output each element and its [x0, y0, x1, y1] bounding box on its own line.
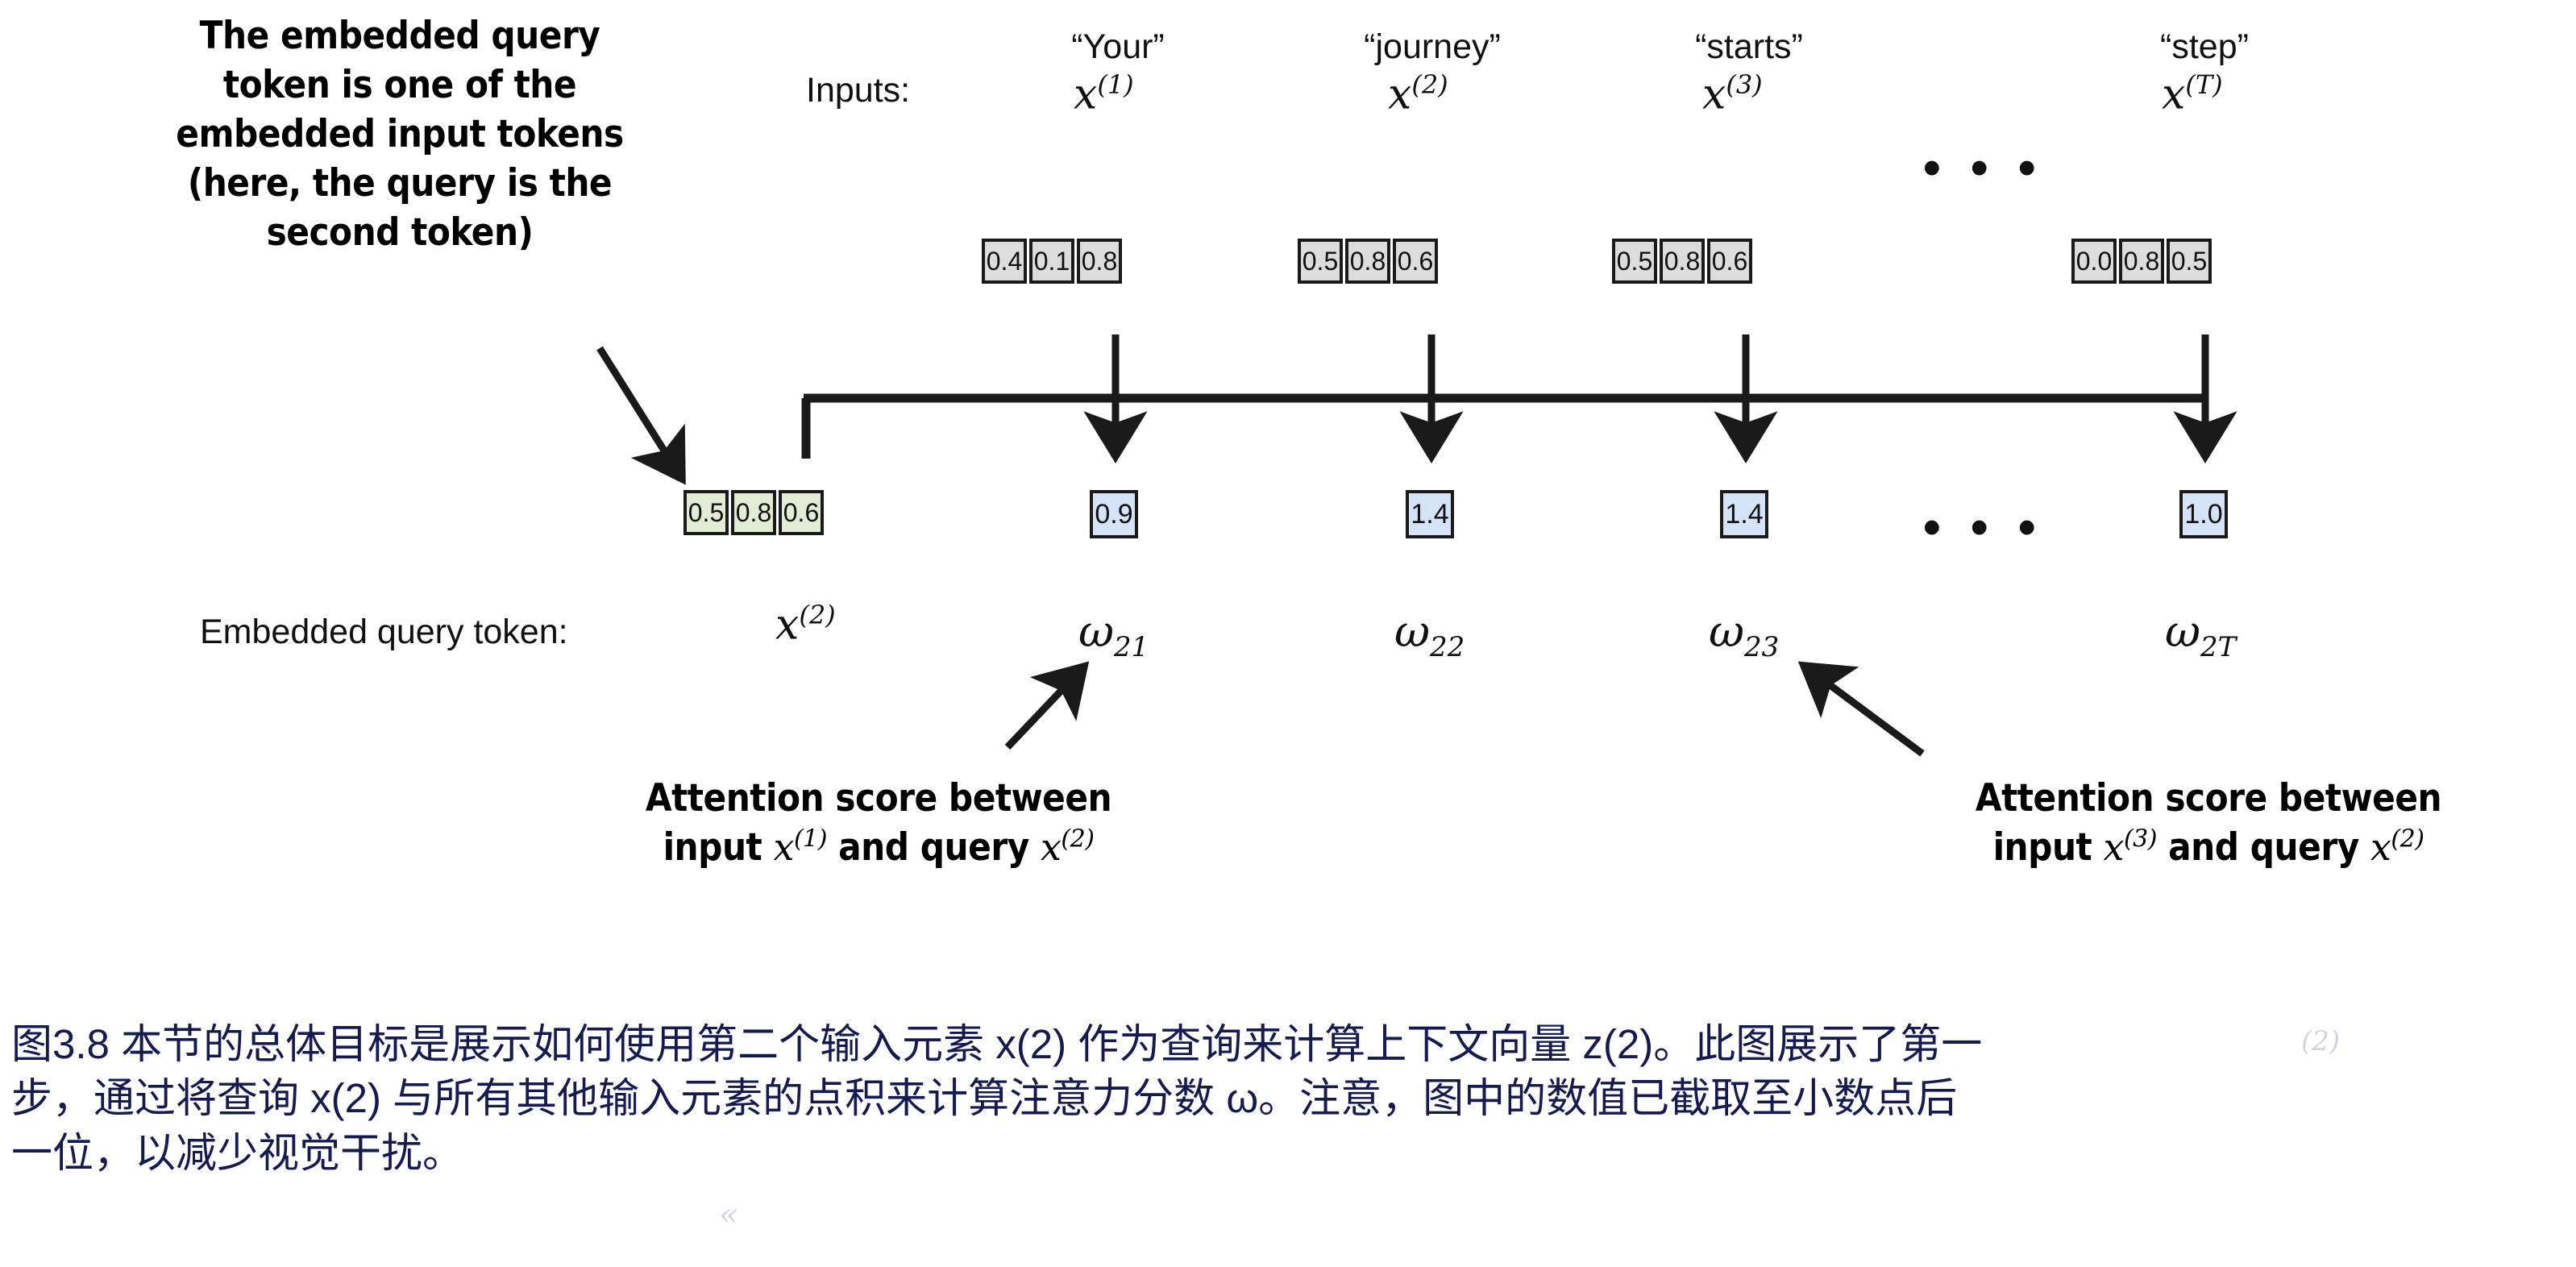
caption-artifact-superscript: (2) [2301, 1025, 2340, 1057]
score-box-2: 1.4 [1406, 490, 1454, 538]
figure-caption: 图3.8 本节的总体目标是展示如何使用第二个输入元素 x(2) 作为查询来计算上… [11, 1017, 2566, 1180]
score-right-arrow-main [1804, 666, 1922, 754]
caption-artifact-mark: « [719, 1196, 738, 1233]
score-right-pre: input [1993, 825, 2104, 870]
embedded-query-token-label: Embedded query token: [200, 613, 568, 652]
input-vector-4-cell-1: 0.8 [2119, 239, 2164, 284]
score-left-mid: and query [827, 825, 1041, 870]
input-vector-3-cell-0: 0.5 [1612, 239, 1657, 284]
omega-label-1: ω21 [1078, 606, 1149, 663]
query-note-line-5: second token) [142, 208, 658, 257]
omega-label-1-sub: 21 [1114, 631, 1149, 663]
omega-label-3: ω23 [1709, 606, 1779, 663]
input-vector-1-cell-2: 0.8 [1077, 239, 1122, 284]
score-left-annotation-line-2: input x(1) and query x(2) [588, 823, 1169, 872]
score-box-1-value: 0.9 [1090, 490, 1138, 538]
figure-caption-line-2: 步，通过将查询 x(2) 与所有其他输入元素的点积来计算注意力分数 ω。注意，图… [11, 1071, 2566, 1125]
score-right-annotation-line-1: Attention score between [1918, 774, 2499, 823]
input-symbol-3: x(3) [1702, 69, 1763, 118]
inputs-label: Inputs: [806, 71, 910, 110]
score-box-4: 1.0 [2179, 490, 2228, 538]
query-note-line-2: token is one of the [142, 60, 658, 110]
score-left-sup1: (1) [794, 825, 827, 853]
query-note-arrow [600, 348, 682, 479]
figure-caption-line-3: 一位，以减少视觉干扰。 [11, 1126, 2566, 1180]
score-left-annotation-line-1: Attention score between [588, 774, 1169, 823]
score-right-x2: x [2370, 825, 2391, 869]
token-word-2: “journey” [1348, 27, 1517, 67]
token-word-3: “starts” [1676, 27, 1822, 67]
input-symbol-1-sup: (1) [1097, 69, 1133, 100]
input-vector-4-cell-2: 0.5 [2167, 239, 2212, 284]
token-word-1: “Your” [1049, 27, 1186, 67]
input-symbol-4: x(T) [2162, 69, 2223, 118]
score-right-sup2: (2) [2391, 825, 2424, 853]
input-vector-2-cell-0: 0.5 [1298, 239, 1343, 284]
score-left-x2: x [1041, 825, 1061, 869]
score-right-x1: x [2103, 825, 2123, 869]
score-left-arrow [1008, 667, 1084, 747]
figure-canvas: The embedded query token is one of the e… [0, 0, 2576, 1267]
token-word-4: “step” [2136, 27, 2273, 67]
omega-label-2: ω22 [1394, 606, 1465, 663]
input-vector-2-cell-1: 0.8 [1345, 239, 1390, 284]
query-note-line-3: embedded input tokens [142, 110, 658, 159]
query-symbol-sup: (2) [799, 600, 835, 630]
input-vector-4: 0.0 0.8 0.5 [2071, 239, 2212, 284]
query-vector-cell-0: 0.5 [683, 490, 729, 535]
score-box-3-value: 1.4 [1720, 490, 1768, 538]
score-box-3: 1.4 [1720, 490, 1768, 538]
score-left-annotation: Attention score between input x(1) and q… [588, 774, 1169, 872]
score-box-2-value: 1.4 [1406, 490, 1454, 538]
input-vector-2: 0.5 0.8 0.6 [1298, 239, 1438, 284]
query-vector-cell-1: 0.8 [731, 490, 776, 535]
input-symbol-3-sup: (3) [1726, 69, 1762, 100]
omega-label-2-sub: 22 [1430, 631, 1465, 663]
input-symbol-1-base: x [1074, 70, 1097, 118]
input-symbol-3-base: x [1702, 70, 1726, 118]
input-row-ellipsis: • • • [1923, 143, 2044, 193]
input-vector-2-cell-2: 0.6 [1393, 239, 1438, 284]
input-vector-4-cell-0: 0.0 [2071, 239, 2117, 284]
query-symbol-base: x [775, 600, 799, 649]
score-right-annotation: Attention score between input x(3) and q… [1918, 774, 2499, 872]
query-note-line-1: The embedded query [142, 11, 658, 60]
input-symbol-1: x(1) [1074, 69, 1134, 118]
score-right-annotation-line-2: input x(3) and query x(2) [1918, 823, 2499, 872]
score-row-ellipsis: • • • [1923, 503, 2044, 553]
query-vector-cell-2: 0.6 [779, 490, 824, 535]
input-symbol-4-sup: (T) [2185, 69, 2222, 100]
figure-caption-line-1: 图3.8 本节的总体目标是展示如何使用第二个输入元素 x(2) 作为查询来计算上… [11, 1017, 2566, 1071]
query-vector: 0.5 0.8 0.6 [683, 490, 824, 535]
input-symbol-2: x(2) [1388, 69, 1448, 118]
input-vector-1: 0.4 0.1 0.8 [982, 239, 1122, 284]
score-left-pre: input [663, 825, 774, 870]
input-vector-3-cell-2: 0.6 [1707, 239, 1752, 284]
omega-label-4-base: ω [2165, 606, 2200, 657]
input-symbol-4-base: x [2162, 70, 2185, 118]
input-vector-1-cell-0: 0.4 [982, 239, 1027, 284]
score-box-1: 0.9 [1090, 490, 1138, 538]
input-vector-3-cell-1: 0.8 [1660, 239, 1705, 284]
score-right-arrow-line [1805, 743, 1901, 756]
omega-label-3-sub: 23 [1744, 631, 1779, 663]
score-left-x1: x [773, 825, 793, 869]
input-vector-3: 0.5 0.8 0.6 [1612, 239, 1752, 284]
input-symbol-2-base: x [1388, 70, 1411, 118]
query-note-line-4: (here, the query is the [142, 159, 658, 208]
score-box-4-value: 1.0 [2179, 490, 2228, 538]
query-note-annotation: The embedded query token is one of the e… [142, 11, 658, 257]
input-symbol-2-sup: (2) [1411, 69, 1448, 100]
omega-label-1-base: ω [1078, 606, 1114, 657]
omega-label-4-sub: 2T [2200, 631, 2236, 663]
omega-label-4: ω2T [2165, 606, 2236, 663]
score-right-mid: and query [2157, 825, 2370, 870]
input-vector-1-cell-1: 0.1 [1029, 239, 1074, 284]
omega-label-3-base: ω [1709, 606, 1744, 657]
score-right-sup1: (3) [2124, 825, 2157, 853]
score-left-sup2: (2) [1061, 825, 1094, 853]
omega-label-2-base: ω [1394, 606, 1430, 657]
query-symbol: x(2) [775, 600, 836, 649]
